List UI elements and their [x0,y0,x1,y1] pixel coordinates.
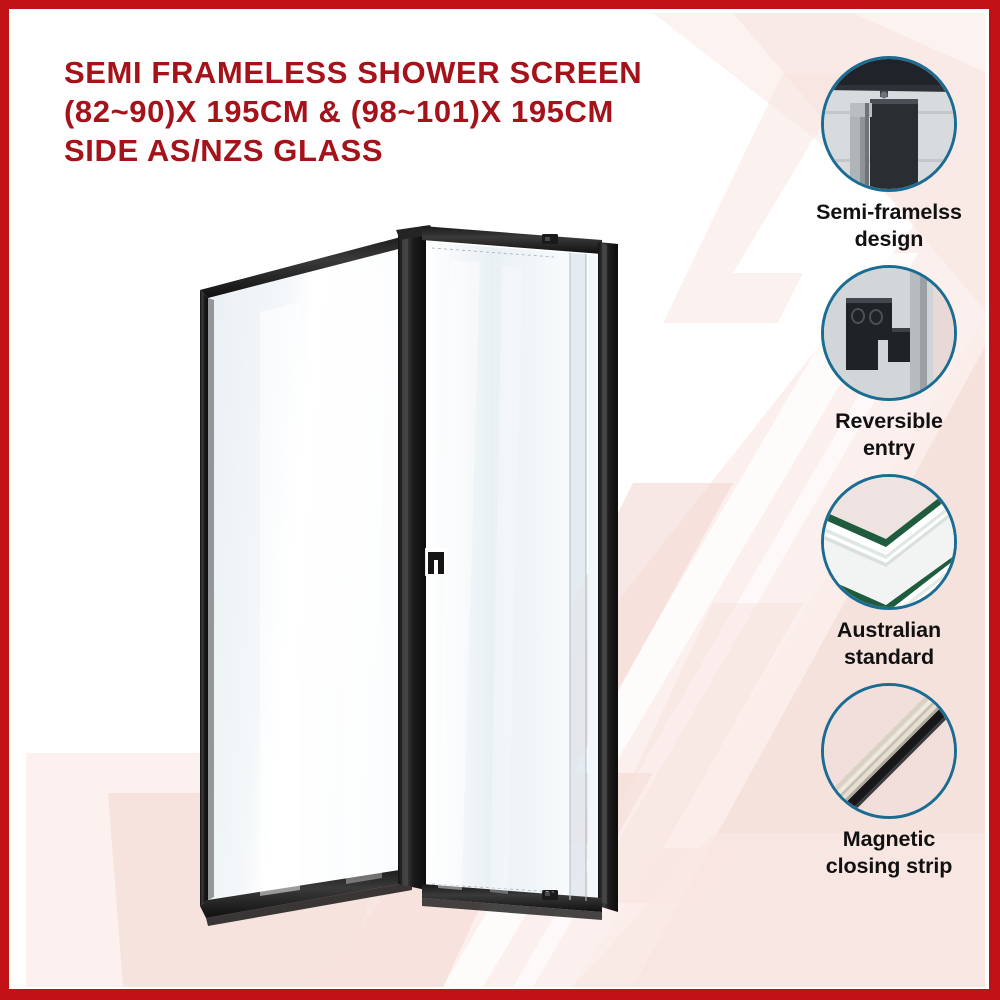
front-right-post-highlight [602,244,607,904]
product-title: SEMI FRAMELESS SHOWER SCREEN (82~90)X 19… [64,53,784,170]
frame-inner-line-left [9,9,13,991]
reversible-hinge-icon [821,265,957,401]
product-listing-image: SEMI FRAMELESS SHOWER SCREEN (82~90)X 19… [0,0,1000,1000]
glass-panel-edges-icon [821,474,957,610]
door-bottom-hinge-detail [545,892,550,896]
side-panel-left-post [200,290,208,906]
frame-border-right [989,0,1000,1000]
magnetic-strip-icon [821,683,957,819]
feature-label: Magnetic closing strip [826,826,953,880]
title-line-1: SEMI FRAMELESS SHOWER SCREEN [64,53,784,92]
feature-list: Semi-framelss design [794,56,984,880]
door-top-hinge-detail [545,237,550,241]
front-right-post [598,242,618,912]
feature-label: Semi-framelss design [816,199,962,253]
feature-reversible-entry: Reversible entry [794,265,984,462]
door-glass-edge [570,253,586,901]
shower-screen-illustration [150,200,790,960]
semi-frameless-bracket-icon [821,56,957,192]
side-reflection-1 [260,302,300,896]
feature-label: Reversible entry [835,408,943,462]
corner-post-highlight [402,234,408,886]
frame-border-left [0,0,9,1000]
feature-label: Australian standard [837,617,941,671]
frame-border-bottom [0,989,1000,1000]
frame-border-top [0,0,1000,9]
feature-australian-standard: Australian standard [794,474,984,671]
side-reflection-2 [346,268,382,884]
title-line-2: (82~90)X 195CM & (98~101)X 195CM [64,92,784,131]
feature-magnetic-closing-strip: Magnetic closing strip [794,683,984,880]
product-photo [150,200,790,960]
side-panel-post-highlight [208,298,214,900]
door-handle [425,548,447,576]
title-line-3: SIDE AS/NZS GLASS [64,131,784,170]
feature-semi-frameless-design: Semi-framelss design [794,56,984,253]
